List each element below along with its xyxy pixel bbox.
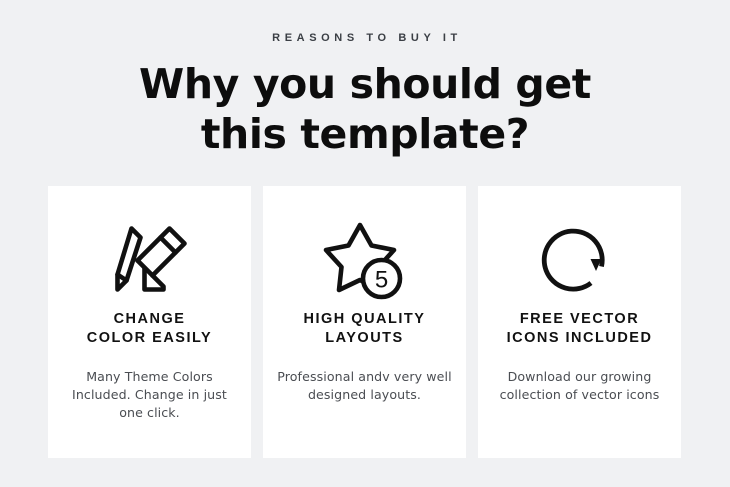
feature-card-title-line-2: COLOR EASILY: [87, 329, 212, 348]
page-title-line-1: Why you should get: [120, 59, 610, 109]
star-badge-number: 5: [374, 267, 387, 294]
feature-card-title: HIGH QUALITY LAYOUTS: [304, 310, 426, 348]
feature-card-title-line-1: FREE VECTOR: [507, 310, 653, 329]
page-title: Why you should get this template?: [0, 59, 730, 159]
feature-card-title-line-2: ICONS INCLUDED: [507, 329, 653, 348]
feature-card-free-vector-icons[interactable]: FREE VECTOR ICONS INCLUDED Download our …: [478, 186, 681, 458]
feature-card-change-color[interactable]: CHANGE COLOR EASILY Many Theme Colors In…: [48, 186, 251, 458]
feature-card-high-quality-layouts[interactable]: 5 HIGH QUALITY LAYOUTS Professional andv…: [263, 186, 466, 458]
page-title-line-2: this template?: [120, 109, 610, 159]
refresh-arrow-icon: [537, 212, 623, 308]
pencil-brush-icon: [107, 212, 193, 308]
feature-card-title-line-1: HIGH QUALITY: [304, 310, 426, 329]
feature-card-title: CHANGE COLOR EASILY: [87, 310, 212, 348]
feature-card-title: FREE VECTOR ICONS INCLUDED: [507, 310, 653, 348]
star-rating-five-icon: 5: [322, 212, 408, 308]
feature-card-title-line-2: LAYOUTS: [304, 329, 426, 348]
feature-card-title-line-1: CHANGE: [87, 310, 212, 329]
section-eyebrow-text: REASONS TO BUY IT: [0, 30, 730, 46]
feature-card-list: CHANGE COLOR EASILY Many Theme Colors In…: [48, 186, 683, 458]
feature-card-description: Download our growing collection of vecto…: [492, 368, 667, 404]
feature-card-description: Many Theme Colors Included. Change in ju…: [62, 368, 237, 422]
section-header: REASONS TO BUY IT Why you should get thi…: [0, 30, 730, 159]
landing-page-section: REASONS TO BUY IT Why you should get thi…: [0, 0, 730, 487]
feature-card-description: Professional andv very well designed lay…: [277, 368, 452, 404]
